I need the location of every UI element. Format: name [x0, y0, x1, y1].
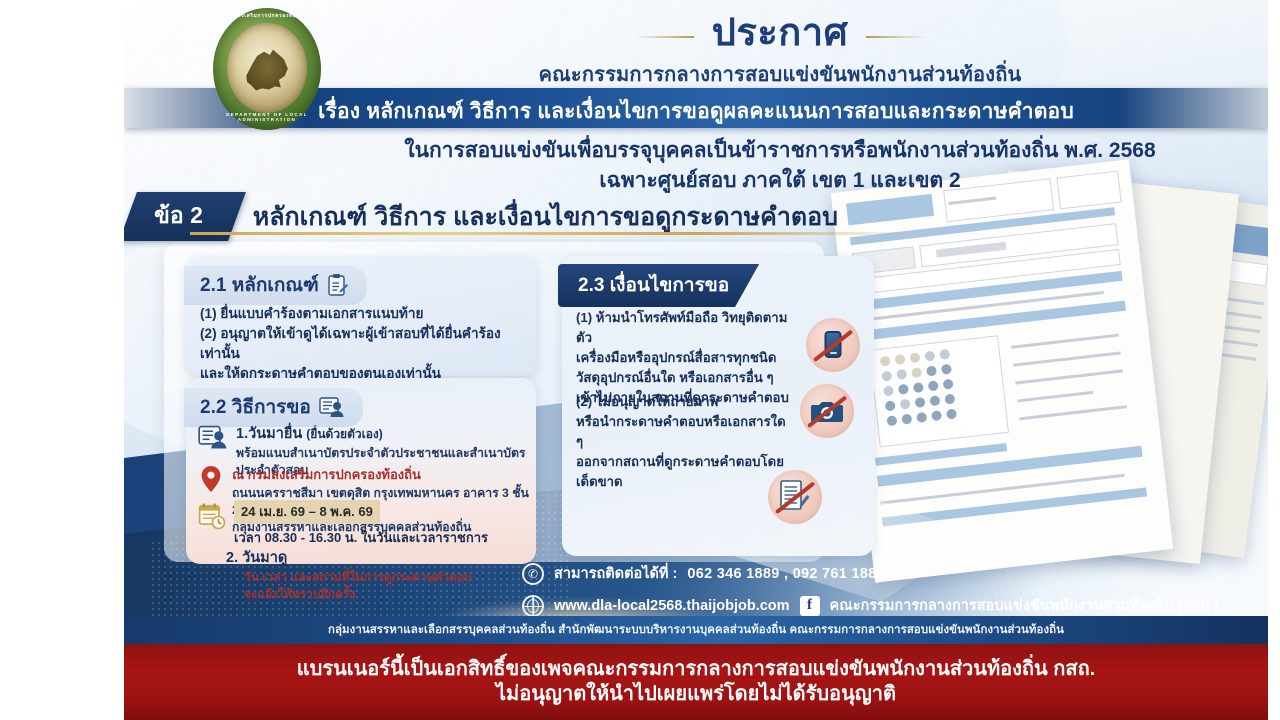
id-card-person-icon	[319, 396, 345, 418]
phone-circle-icon: ✆	[522, 563, 544, 585]
card-2-3-bullet-1-line-1: (1) ห้ามนำโทรศัพท์มือถือ วิทยุติดตามตัว	[576, 308, 790, 348]
disclaimer-line-2: ไม่อนุญาตให้นำไปเผยแพร่โดยไม่ได้รับอนุญา…	[496, 682, 896, 707]
ribbon-fade-right	[1118, 88, 1268, 128]
card-2-2-heading-label: 2.2 วิธีการขอ	[200, 392, 311, 422]
dla-emblem-icon: กรมส่งเสริมการปกครองท้องถิ่น DEPARTMENT …	[213, 8, 321, 130]
page-title: ประกาศ	[678, 14, 882, 54]
calendar-clock-icon	[198, 502, 226, 530]
card-2-3-conditions: 2.3 เงื่อนไขการขอ (1) ห้ามนำโทรศัพท์มือถ…	[562, 256, 874, 556]
card-2-3-bullet-2-line-2: หรือนำกระดาษคำตอบหรือเอกสารใด ๆ	[576, 412, 790, 452]
section-gold-rule	[190, 232, 916, 235]
card-2-3-heading: 2.3 เงื่อนไขการขอ	[558, 264, 759, 307]
credit-strip-text: กลุ่มงานสรรหาและเลือกสรรบุคคลส่วนท้องถิ่…	[328, 621, 1064, 639]
card-2-2-view-sub-1: วัน เวลา และสถานที่ในการดูกระดาษคำตอบ	[244, 569, 526, 586]
card-2-1-body: (1) ยื่นแบบคำร้องตามเอกสารแนบท้าย (2) อน…	[200, 304, 530, 383]
contact-phone-numbers: 062 346 1889 , 092 761 1889	[687, 566, 885, 582]
section-title: หลักเกณฑ์ วิธีการ และเงื่อนไขการขอดูกระด…	[253, 197, 838, 237]
disclaimer-strip: แบรนเนอร์นี้เป็นเอกสิทธิ์ของเพจคณะกรรมกา…	[124, 644, 1268, 720]
clipboard-pencil-icon	[327, 273, 349, 297]
no-camera-icon	[800, 384, 854, 438]
card-2-2-submit-title: 1.วันมายื่น	[236, 426, 302, 442]
header-line-exam-year: ในการสอบแข่งขันเพื่อบรรจุบุคคลเป็นข้าราช…	[330, 134, 1230, 167]
no-mobile-phone-icon	[806, 318, 860, 372]
infographic-canvas: กรมส่งเสริมการปกครองท้องถิ่น DEPARTMENT …	[0, 0, 1280, 720]
page-subtitle: คณะกรรมการกลางการสอบแข่งขันพนักงานส่วนท้…	[330, 58, 1230, 90]
card-2-3-bullet-1-line-2: เครื่องมือหรืออุปกรณ์สื่อสารทุกชนิด	[576, 348, 790, 368]
card-2-2-date-range: 24 เม.ย. 69 – 8 พ.ค. 69	[234, 500, 380, 524]
card-2-2-how-to-request: 2.2 วิธีการขอ 1.วันมาย	[186, 378, 536, 564]
card-2-2-row-schedule: 24 เม.ย. 69 – 8 พ.ค. 69 เวลา 08.30 - 16.…	[198, 500, 534, 548]
emblem-ring-text-bottom: DEPARTMENT OF LOCAL ADMINISTRATION	[213, 112, 321, 122]
card-2-1-line-2: (2) อนุญาตให้เข้าดูได้เฉพาะผู้เข้าสอบที่…	[200, 324, 530, 364]
announcement-header: ประกาศ คณะกรรมการกลางการสอบแข่งขันพนักงา…	[330, 14, 1230, 90]
section-number-label: ข้อ 2	[154, 198, 203, 234]
card-2-1-heading-label: 2.1 หลักเกณฑ์	[200, 270, 319, 300]
card-2-3-bullet-2: (2) ไม่อนุญาตให้ถ่ายภาพ หรือนำกระดาษคำตอ…	[576, 392, 790, 492]
card-2-1-criteria: 2.1 หลักเกณฑ์ (1) ยื่นแบบคำร้องตามเอกสาร…	[186, 256, 536, 376]
card-2-2-place-name: ณ กรมส่งเสริมการปกครองท้องถิ่น	[232, 464, 534, 485]
letterbox-right	[1268, 0, 1280, 720]
card-2-2-submit-title-wrap: 1.วันมายื่น (ยื่นด้วยตัวเอง)	[236, 422, 534, 445]
card-2-3-bullet-2-line-3: ออกจากสถานที่ดูกระดาษคำตอบโดยเด็ดขาด	[576, 452, 790, 492]
letterbox-left	[0, 0, 124, 720]
no-document-pen-icon	[768, 470, 822, 524]
card-2-2-view-title: 2. วันมาดู	[226, 546, 526, 569]
emblem-singha-lion-icon	[242, 43, 292, 95]
card-2-1-line-1: (1) ยื่นแบบคำร้องตามเอกสารแนบท้าย	[200, 304, 530, 324]
card-2-2-time: เวลา 08.30 - 16.30 น. ในวันและเวลาราชการ	[234, 527, 488, 548]
facebook-icon[interactable]: f	[800, 596, 820, 616]
card-2-3-bullet-2-line-1: (2) ไม่อนุญาตให้ถ่ายภาพ	[576, 392, 790, 412]
card-2-1-heading: 2.1 หลักเกณฑ์	[184, 266, 367, 305]
emblem-ring-text-top: กรมส่งเสริมการปกครองท้องถิ่น	[213, 12, 321, 20]
emblem-inner-disc	[227, 23, 307, 113]
contact-facebook-page[interactable]: คณะกรรมการกลางการสอบแข่งขันพนักงานส่วนท้…	[830, 594, 1219, 617]
card-2-3-heading-label: 2.3 เงื่อนไขการขอ	[578, 270, 729, 300]
card-2-3-bullet-1-line-3: วัสดุอุปกรณ์อื่นใด หรือเอกสารอื่น ๆ	[576, 368, 790, 388]
card-2-2-row-view: 2. วันมาดู วัน เวลา และสถานที่ในการดูกระ…	[226, 546, 526, 603]
credit-strip: กลุ่มงานสรรหาและเลือกสรรบุคคลส่วนท้องถิ่…	[124, 616, 1268, 644]
map-pin-icon	[198, 465, 224, 493]
disclaimer-line-1: แบรนเนอร์นี้เป็นเอกสิทธิ์ของเพจคณะกรรมกา…	[297, 657, 1095, 682]
id-card-person-icon	[198, 424, 228, 450]
contact-phone-label: สามารถติดต่อได้ที่ :	[554, 562, 677, 585]
contact-phone-row: ✆ สามารถติดต่อได้ที่ : 062 346 1889 , 09…	[522, 562, 885, 585]
card-2-2-submit-note: (ยื่นด้วยตัวเอง)	[306, 427, 383, 441]
